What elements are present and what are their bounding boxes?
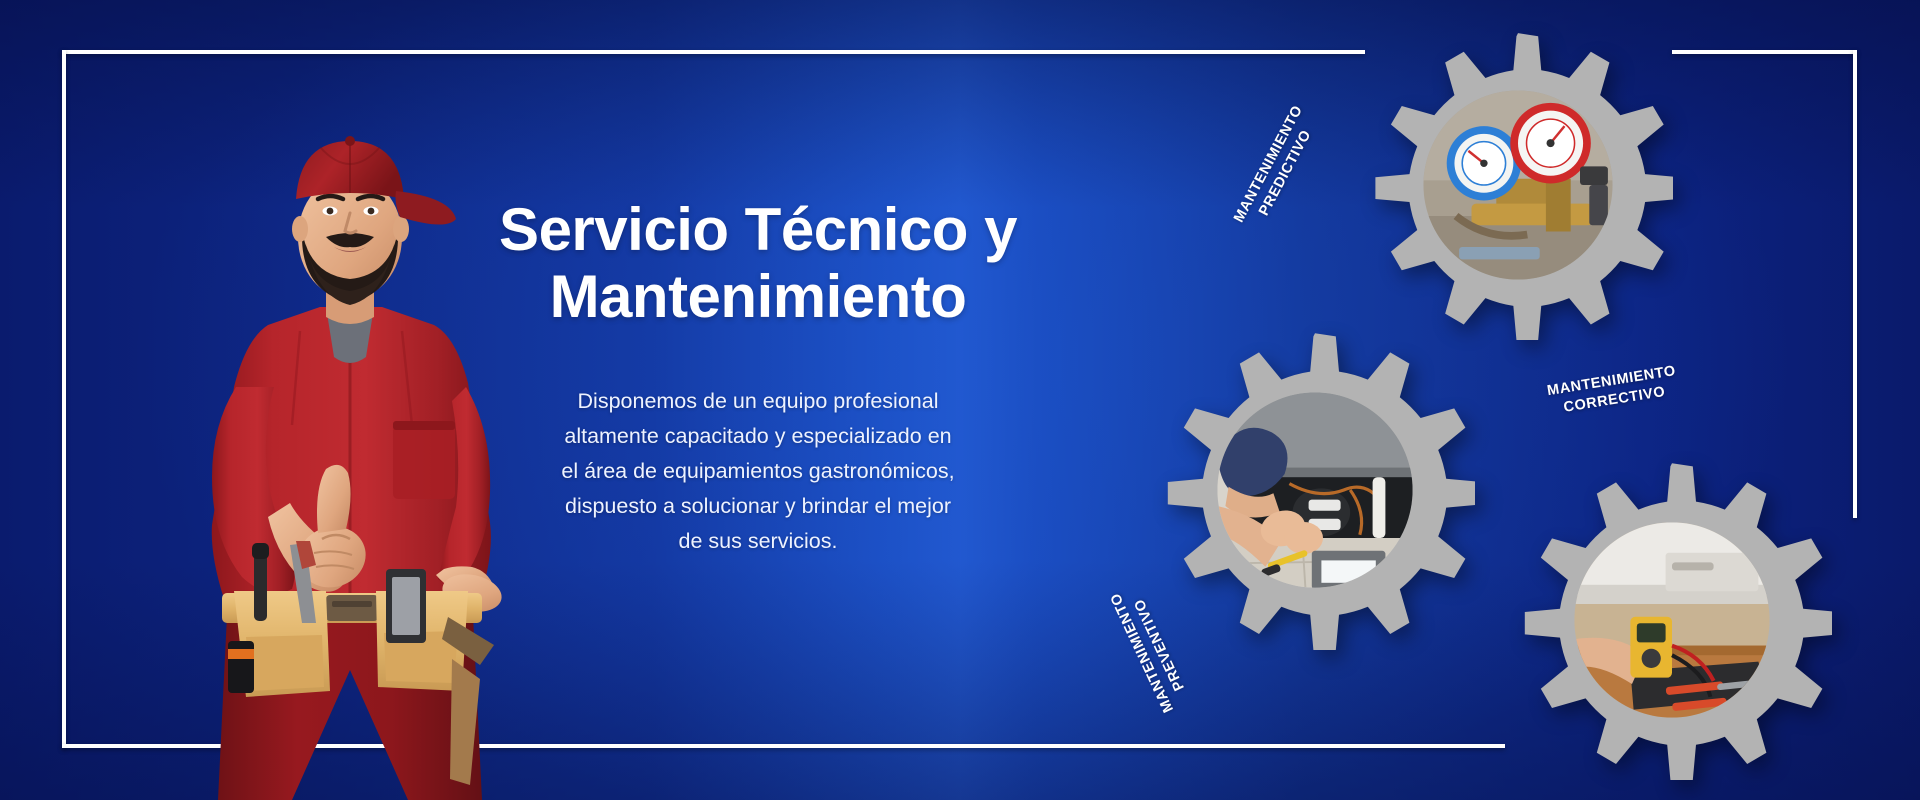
- hero-copy: Servicio Técnico y Mantenimiento Dispone…: [468, 196, 1048, 559]
- frame-left-line: [62, 50, 66, 748]
- gear-badge-preventivo[interactable]: [1155, 330, 1475, 650]
- gear-photo-preventivo: [1217, 392, 1412, 589]
- frame-top-right-segment: [1672, 50, 1857, 54]
- headline-line-2: Mantenimiento: [550, 263, 967, 330]
- gear-photo-predictivo: [1423, 90, 1612, 279]
- hero-banner: Servicio Técnico y Mantenimiento Dispone…: [0, 0, 1920, 800]
- frame-right-line: [1853, 50, 1857, 518]
- gear-badge-predictivo[interactable]: [1363, 30, 1673, 340]
- gear-label-predictivo: MANTENIMIENTO PREDICTIVO: [1230, 102, 1324, 234]
- hero-paragraph: Disponemos de un equipo profesional alta…: [468, 384, 1048, 558]
- headline-line-1: Servicio Técnico y: [499, 196, 1017, 263]
- gear-badge-correctivo[interactable]: [1512, 460, 1832, 780]
- gear-photo-correctivo: [1574, 522, 1769, 717]
- paragraph-line-5: de sus servicios.: [468, 524, 1048, 559]
- paragraph-line-3: el área de equipamientos gastronómicos,: [468, 454, 1048, 489]
- page-title: Servicio Técnico y Mantenimiento: [468, 196, 1048, 330]
- gear-label-correctivo: MANTENIMIENTO CORRECTIVO: [1546, 362, 1680, 419]
- paragraph-line-4: dispuesto a solucionar y brindar el mejo…: [468, 489, 1048, 524]
- paragraph-line-1: Disponemos de un equipo profesional: [468, 384, 1048, 419]
- frame-top-left-segment: [62, 50, 1365, 54]
- paragraph-line-2: altamente capacitado y especializado en: [468, 419, 1048, 454]
